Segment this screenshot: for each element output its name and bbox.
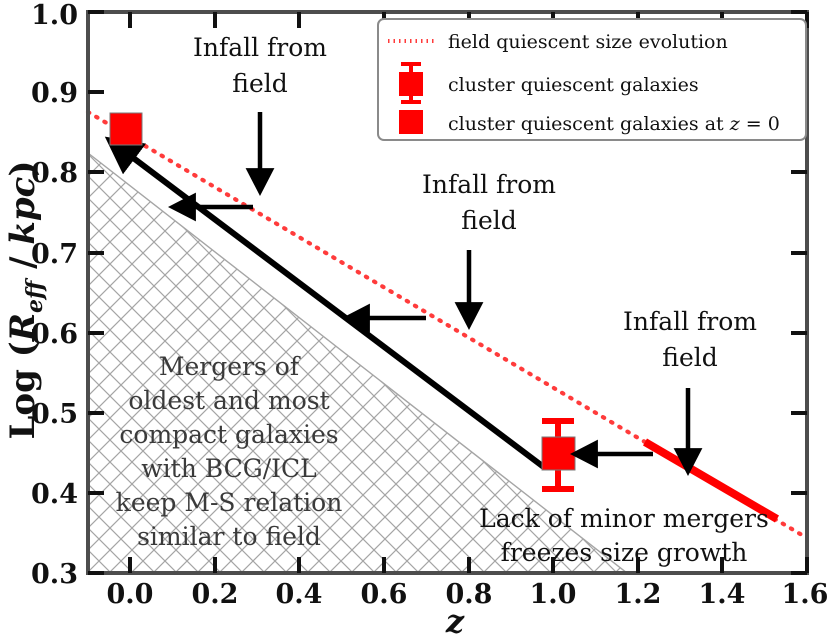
x-tick-0: 0.0 bbox=[107, 579, 154, 610]
x-axis-tick-labels: 0.0 0.2 0.4 0.6 0.8 1.0 1.2 1.4 1.6 bbox=[107, 579, 829, 610]
datapoint-cluster-z0 bbox=[110, 113, 142, 145]
hatch-text-line4: with BCG/ICL bbox=[141, 454, 316, 483]
y-tick-6: 0.9 bbox=[31, 78, 78, 109]
legend-label-1: cluster quiescent galaxies bbox=[448, 74, 699, 96]
annotation-lack-line2: freezes size growth bbox=[501, 538, 748, 567]
y-axis-title-post: ) bbox=[3, 161, 43, 177]
hatch-text-line3: compact galaxies bbox=[119, 420, 338, 449]
annotation-infall-2-line1: Infall from bbox=[422, 170, 556, 199]
annotation-lack-line1: Lack of minor mergers bbox=[479, 504, 769, 533]
hatch-text-line5: keep M-S relation bbox=[116, 488, 343, 517]
legend-label-2-pre: cluster quiescent galaxies at bbox=[448, 113, 730, 135]
y-tick-7: 1.0 bbox=[31, 0, 78, 31]
annotation-infall-1-line1: Infall from bbox=[193, 33, 327, 62]
x-tick-3: 0.6 bbox=[361, 579, 408, 610]
y-axis-title-symbol: R bbox=[3, 313, 43, 342]
y-tick-0: 0.3 bbox=[31, 559, 78, 590]
hatch-text-line2: oldest and most bbox=[128, 386, 329, 415]
legend: field quiescent size evolution cluster q… bbox=[378, 19, 806, 140]
x-tick-8: 1.6 bbox=[782, 579, 829, 610]
y-tick-1: 0.4 bbox=[31, 479, 78, 510]
y-axis-title-mid: / bbox=[3, 245, 43, 281]
annotation-infall-3-line2: field bbox=[662, 343, 717, 372]
annotation-infall-2-line2: field bbox=[461, 206, 516, 235]
x-tick-1: 0.2 bbox=[192, 579, 239, 610]
y-axis-title: Log (Reff / kpc) bbox=[3, 161, 48, 440]
y-axis-title-pre: Log ( bbox=[3, 341, 43, 439]
legend-label-0: field quiescent size evolution bbox=[448, 31, 728, 53]
annotation-infall-1-line2: field bbox=[232, 69, 287, 98]
svg-text:Log (Reff / kpc): Log (Reff / kpc) bbox=[3, 161, 48, 440]
x-tick-7: 1.4 bbox=[699, 579, 746, 610]
x-axis-title: z bbox=[445, 602, 465, 637]
legend-label-2-post: = 0 bbox=[740, 113, 780, 135]
x-tick-5: 1.0 bbox=[530, 579, 577, 610]
legend-label-2: cluster quiescent galaxies at z = 0 bbox=[448, 113, 780, 135]
y-axis-title-unit: kpc bbox=[3, 176, 43, 244]
hatch-text-line1: Mergers of bbox=[159, 352, 301, 381]
y-axis-title-subscript: eff bbox=[22, 277, 48, 313]
x-tick-2: 0.4 bbox=[276, 579, 323, 610]
chart-svg: Infall from field Infall from field Infa… bbox=[0, 0, 831, 637]
x-tick-6: 1.2 bbox=[615, 579, 662, 610]
figure-root: Infall from field Infall from field Infa… bbox=[0, 0, 831, 637]
hatch-text-line6: similar to field bbox=[137, 522, 321, 551]
annotation-infall-3-line1: Infall from bbox=[623, 307, 757, 336]
legend-marker-square-icon bbox=[399, 110, 423, 134]
